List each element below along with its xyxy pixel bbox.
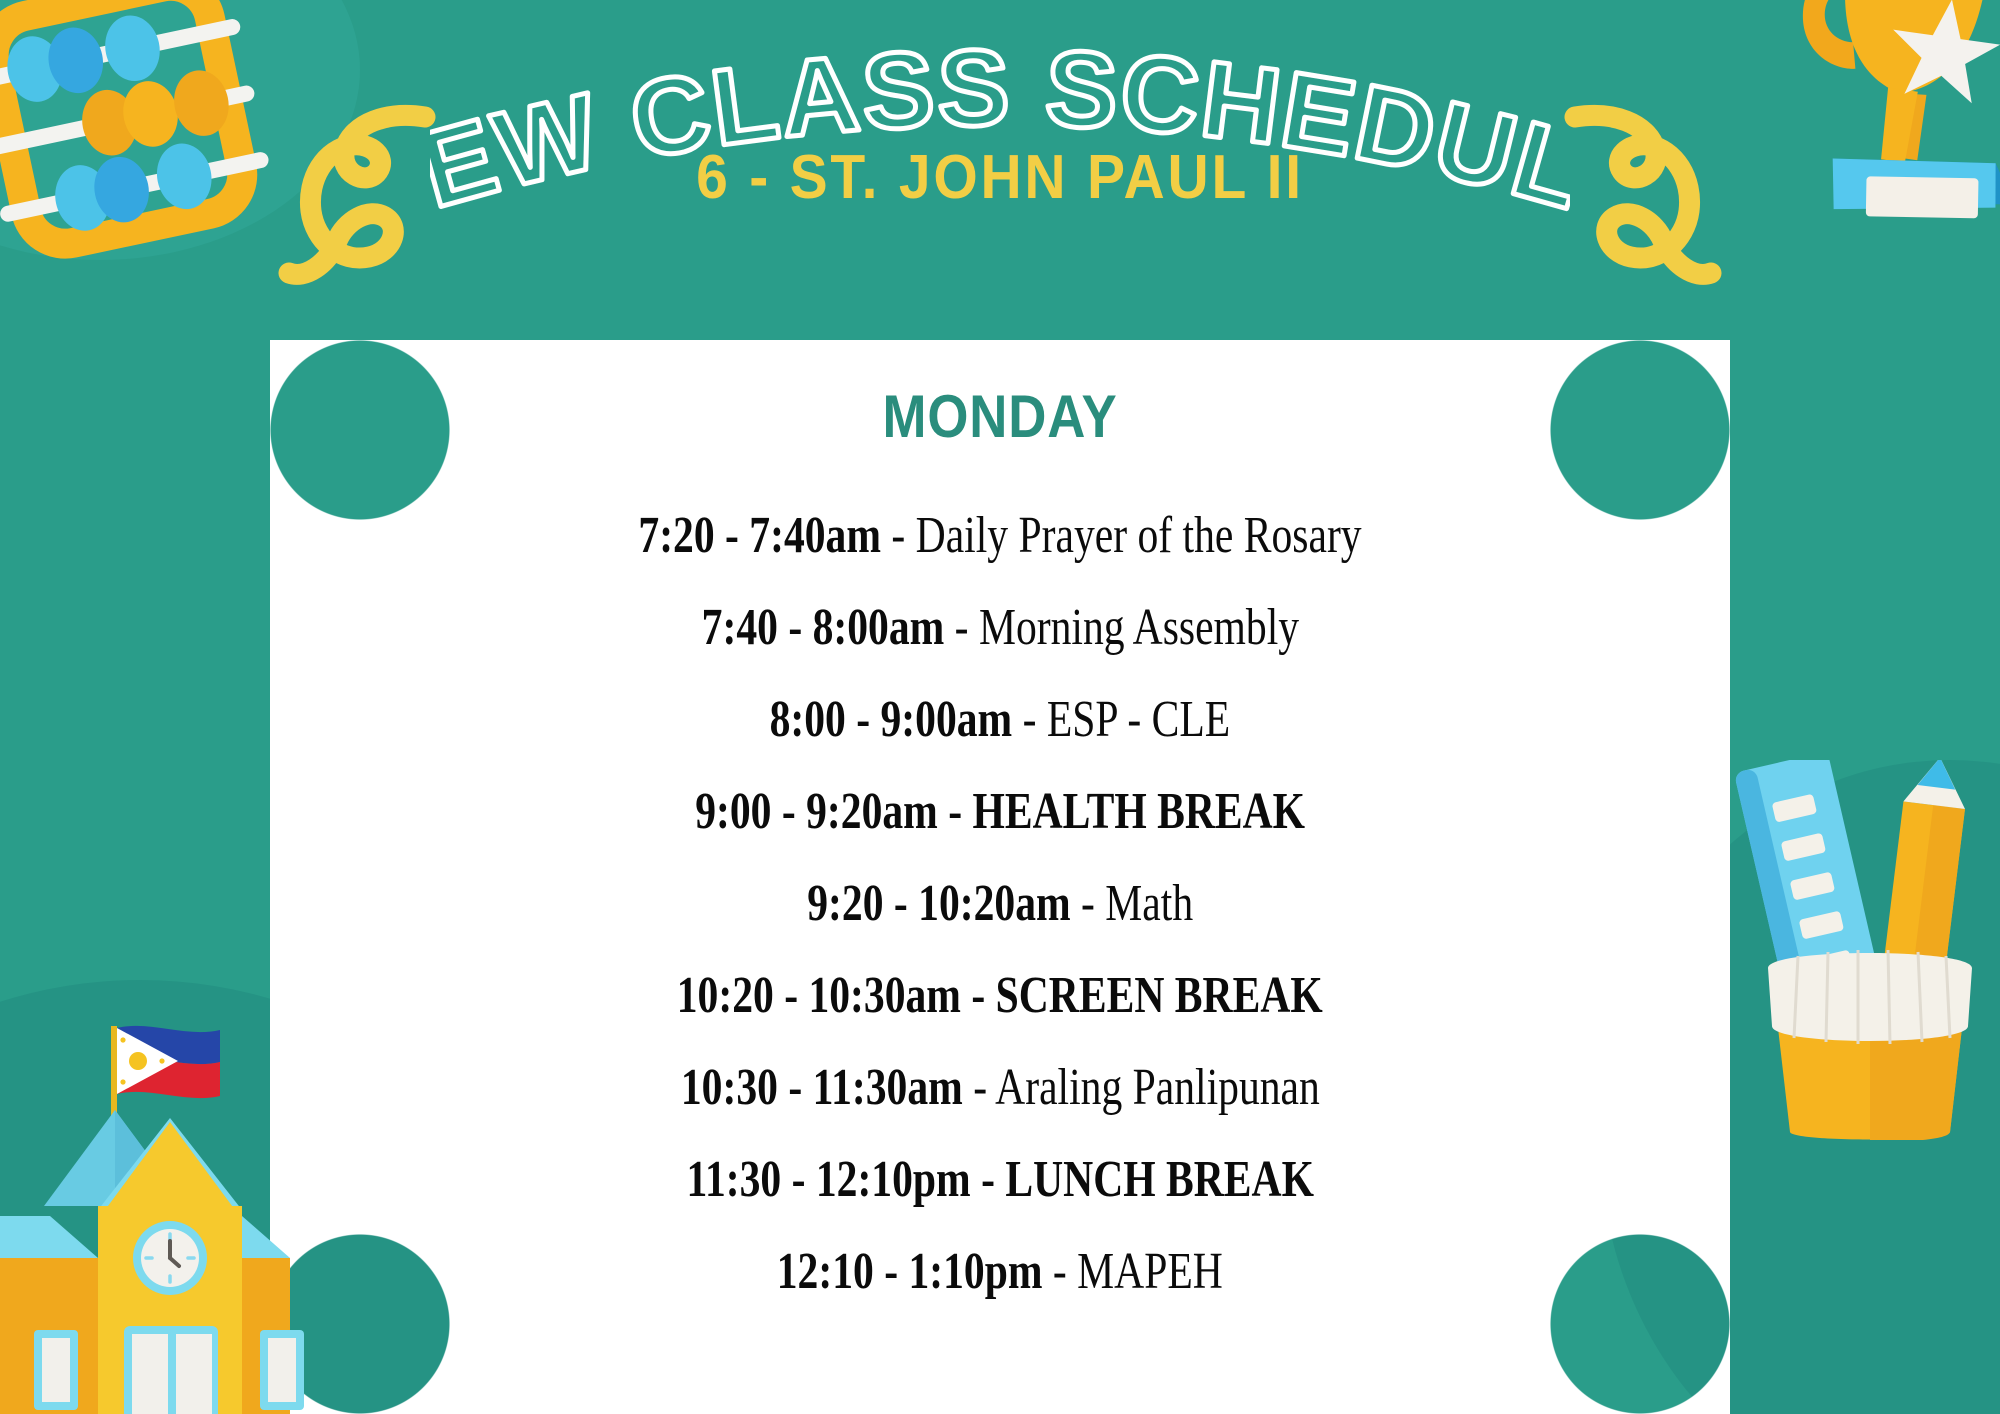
schedule-row: 10:30 - 11:30am - Araling Panlipunan	[270, 1042, 1730, 1134]
schedule-row-inner: 9:20 - 10:20am - Math	[807, 858, 1193, 950]
schedule-row-inner: 9:00 - 9:20am - HEALTH BREAK	[695, 766, 1305, 858]
schedule-description: ESP - CLE	[1047, 691, 1230, 748]
schedule-time: 9:20 - 10:20am	[807, 875, 1070, 932]
schedule-description: Araling Panlipunan	[995, 1059, 1320, 1116]
schedule-description: Math	[1105, 875, 1193, 932]
schedule-description: LUNCH BREAK	[1005, 1151, 1314, 1208]
schedule-separator: -	[1081, 875, 1095, 932]
schedule-description: MAPEH	[1077, 1243, 1223, 1300]
schedule-time: 7:40 - 8:00am	[701, 599, 944, 656]
schedule-row: 8:00 - 9:00am - ESP - CLE	[270, 674, 1730, 766]
schedule-row: 11:30 - 12:10pm - LUNCH BREAK	[270, 1134, 1730, 1226]
schedule-description: HEALTH BREAK	[972, 783, 1305, 840]
yellow-swirl-icon	[275, 75, 445, 305]
yellow-swirl-icon	[1555, 75, 1725, 305]
schedule-time: 7:20 - 7:40am	[638, 507, 881, 564]
schedule-row: 12:10 - 1:10pm - MAPEH	[270, 1226, 1730, 1318]
schedule-row: 10:20 - 10:30am - SCREEN BREAK	[270, 950, 1730, 1042]
schedule-time: 9:00 - 9:20am	[695, 783, 938, 840]
schedule-time: 10:20 - 10:30am	[677, 967, 961, 1024]
schedule-time: 12:10 - 1:10pm	[777, 1243, 1043, 1300]
day-title: MONDAY	[358, 382, 1643, 451]
schedule-separator: -	[954, 599, 968, 656]
schedule-time: 8:00 - 9:00am	[770, 691, 1013, 748]
schedule-time: 11:30 - 12:10pm	[686, 1151, 970, 1208]
schedule-separator: -	[1023, 691, 1037, 748]
schedule-row-inner: 12:10 - 1:10pm - MAPEH	[777, 1226, 1223, 1318]
schedule-separator: -	[891, 507, 905, 564]
poster-header: NEW CLASS SCHEDULE 6 - ST. JOHN PAUL II	[0, 0, 2000, 300]
schedule-list: 7:20 - 7:40am - Daily Prayer of the Rosa…	[270, 490, 1730, 1318]
schedule-separator: -	[973, 1059, 987, 1116]
schedule-row-inner: 10:30 - 11:30am - Araling Panlipunan	[681, 1042, 1320, 1134]
schedule-row-inner: 11:30 - 12:10pm - LUNCH BREAK	[686, 1134, 1314, 1226]
schedule-row: 9:20 - 10:20am - Math	[270, 858, 1730, 950]
schedule-description: Daily Prayer of the Rosary	[916, 507, 1362, 564]
schedule-row: 7:40 - 8:00am - Morning Assembly	[270, 582, 1730, 674]
schedule-row-inner: 10:20 - 10:30am - SCREEN BREAK	[677, 950, 1323, 1042]
schedule-separator: -	[948, 783, 962, 840]
schedule-separator: -	[972, 967, 986, 1024]
schedule-row: 7:20 - 7:40am - Daily Prayer of the Rosa…	[270, 490, 1730, 582]
schedule-row: 9:00 - 9:20am - HEALTH BREAK	[270, 766, 1730, 858]
schedule-row-inner: 7:20 - 7:40am - Daily Prayer of the Rosa…	[638, 490, 1361, 582]
schedule-separator: -	[1053, 1243, 1067, 1300]
schedule-time: 10:30 - 11:30am	[681, 1059, 963, 1116]
schedule-separator: -	[981, 1151, 995, 1208]
schedule-description: SCREEN BREAK	[996, 967, 1323, 1024]
schedule-poster: NEW CLASS SCHEDULE 6 - ST. JOHN PAUL II …	[0, 0, 2000, 1414]
schedule-row-inner: 8:00 - 9:00am - ESP - CLE	[770, 674, 1231, 766]
schedule-description: Morning Assembly	[979, 599, 1299, 656]
schedule-card: MONDAY 7:20 - 7:40am - Daily Prayer of t…	[270, 340, 1730, 1414]
schedule-row-inner: 7:40 - 8:00am - Morning Assembly	[701, 582, 1298, 674]
pencil-cup-icon	[1710, 760, 2000, 1140]
